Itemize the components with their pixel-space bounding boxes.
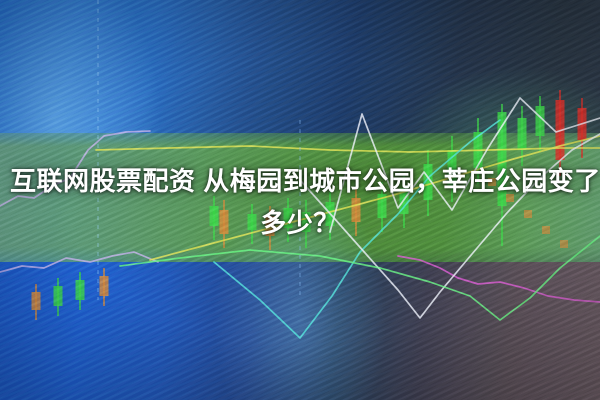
- headline-line-2: 多少？: [10, 202, 590, 244]
- headline-line-1: 互联网股票配资 从梅园到城市公园，莘庄公园变了: [10, 160, 590, 202]
- banner-image: 互联网股票配资 从梅园到城市公园，莘庄公园变了 多少？: [0, 0, 600, 400]
- headline: 互联网股票配资 从梅园到城市公园，莘庄公园变了 多少？: [0, 160, 600, 244]
